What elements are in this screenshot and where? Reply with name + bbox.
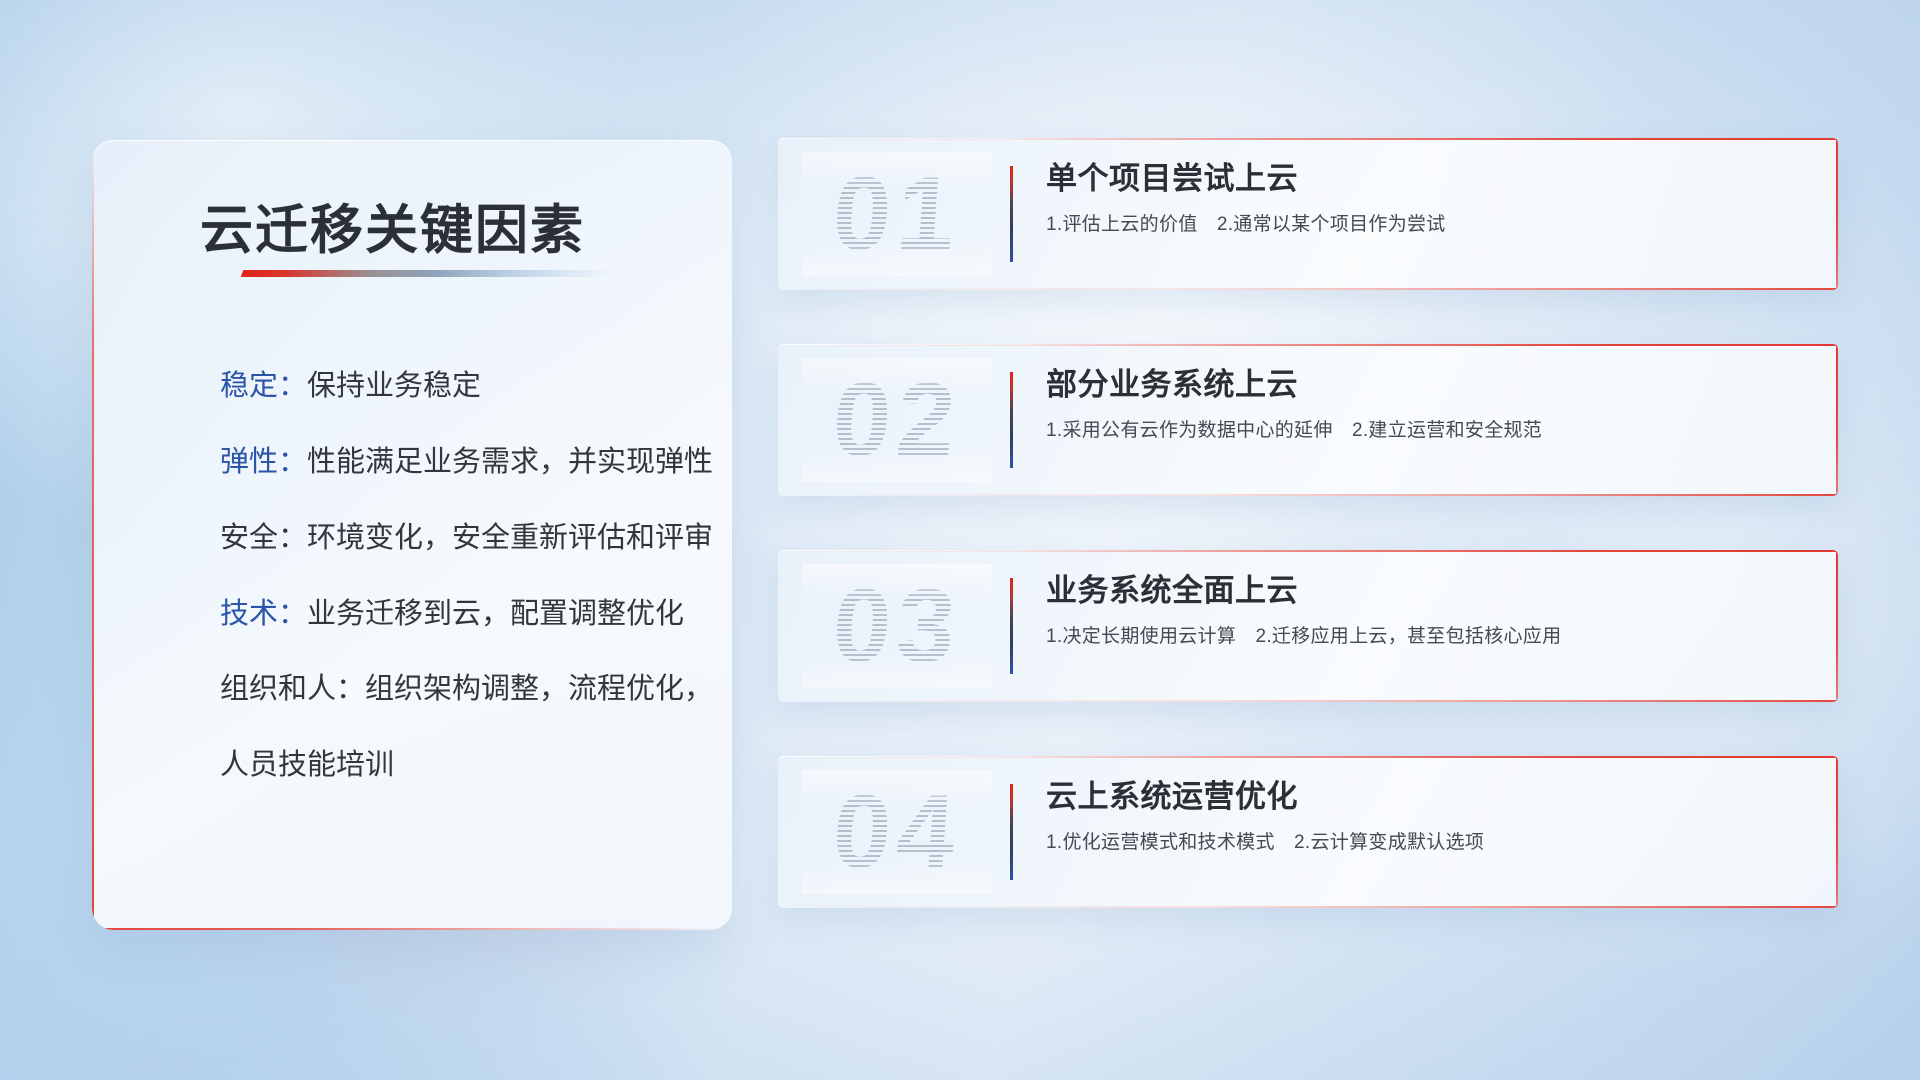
card-right-accent — [1836, 344, 1838, 496]
card-body: 单个项目尝试上云 1.评估上云的价值 2.通常以某个项目作为尝试 — [1046, 160, 1802, 238]
card-top-accent — [778, 756, 1838, 758]
factor-value-organization-continuation: 人员技能培训 — [220, 751, 692, 781]
card-divider-bar — [1010, 372, 1013, 468]
factor-value-technology: 业务迁移到云，配置调整优化 — [307, 598, 684, 630]
card-number-02: 02 — [798, 358, 997, 482]
factor-value-security: 环境变化，安全重新评估和评审 — [307, 522, 713, 554]
factor-list: 稳定：保持业务稳定 弹性：性能满足业务需求，并实现弹性 安全：环境变化，安全重新… — [220, 372, 692, 781]
card-number-01: 01 — [798, 152, 997, 276]
factor-label-stability: 稳定： — [220, 370, 307, 402]
panel-title: 云迁移关键因素 — [200, 188, 585, 264]
stage-card-04[interactable]: 04 云上系统运营优化 1.优化运营模式和技术模式 2.云计算变成默认选项 — [778, 756, 1838, 908]
factor-value-elasticity: 性能满足业务需求，并实现弹性 — [307, 446, 713, 478]
card-right-accent — [1836, 138, 1838, 290]
factor-label-organization: 组织和人： — [220, 673, 365, 705]
factor-label-elasticity: 弹性： — [220, 446, 307, 478]
card-bottom-accent — [778, 700, 1838, 702]
card-title-03: 业务系统全面上云 — [1046, 572, 1802, 610]
factor-item-technology: 技术：业务迁移到云，配置调整优化 — [220, 600, 692, 630]
factor-item-security: 安全：环境变化，安全重新评估和评审 — [220, 524, 692, 554]
card-desc-03: 1.决定长期使用云计算 2.迁移应用上云，甚至包括核心应用 — [1046, 625, 1802, 650]
factor-value-organization: 组织架构调整，流程优化， — [365, 673, 713, 705]
stage-card-list: 01 单个项目尝试上云 1.评估上云的价值 2.通常以某个项目作为尝试 02 部… — [778, 138, 1838, 908]
card-number-03: 03 — [798, 564, 997, 688]
card-divider-bar — [1010, 784, 1013, 880]
card-title-02: 部分业务系统上云 — [1046, 366, 1802, 404]
stage-card-02[interactable]: 02 部分业务系统上云 1.采用公有云作为数据中心的延伸 2.建立运营和安全规范 — [778, 344, 1838, 496]
card-bottom-accent — [778, 494, 1838, 496]
card-desc-04: 1.优化运营模式和技术模式 2.云计算变成默认选项 — [1046, 831, 1802, 856]
card-body: 部分业务系统上云 1.采用公有云作为数据中心的延伸 2.建立运营和安全规范 — [1046, 366, 1802, 444]
factor-label-security: 安全： — [220, 522, 307, 554]
card-top-accent — [778, 344, 1838, 346]
card-desc-02: 1.采用公有云作为数据中心的延伸 2.建立运营和安全规范 — [1046, 419, 1802, 444]
card-divider-bar — [1010, 578, 1013, 674]
factor-item-elasticity: 弹性：性能满足业务需求，并实现弹性 — [220, 448, 692, 478]
card-body: 云上系统运营优化 1.优化运营模式和技术模式 2.云计算变成默认选项 — [1046, 778, 1802, 856]
card-title-04: 云上系统运营优化 — [1046, 778, 1802, 816]
panel-top-highlight — [92, 140, 732, 141]
panel-bottom-accent — [92, 928, 732, 930]
card-top-accent — [778, 550, 1838, 552]
card-bottom-accent — [778, 906, 1838, 908]
slide-stage: 云迁移关键因素 稳定：保持业务稳定 弹性：性能满足业务需求，并实现弹性 安全：环… — [0, 0, 1920, 1080]
factor-label-technology: 技术： — [220, 598, 307, 630]
title-underline-rule — [241, 270, 614, 277]
factor-item-organization: 组织和人：组织架构调整，流程优化， — [220, 675, 692, 705]
card-desc-01: 1.评估上云的价值 2.通常以某个项目作为尝试 — [1046, 213, 1802, 238]
card-bottom-accent — [778, 288, 1838, 290]
card-body: 业务系统全面上云 1.决定长期使用云计算 2.迁移应用上云，甚至包括核心应用 — [1046, 572, 1802, 650]
card-right-accent — [1836, 550, 1838, 702]
card-number-04: 04 — [798, 770, 997, 894]
card-divider-bar — [1010, 166, 1013, 262]
stage-card-01[interactable]: 01 单个项目尝试上云 1.评估上云的价值 2.通常以某个项目作为尝试 — [778, 138, 1838, 290]
factor-value-stability: 保持业务稳定 — [307, 370, 481, 402]
panel-left-accent — [92, 140, 94, 930]
card-title-01: 单个项目尝试上云 — [1046, 160, 1802, 198]
card-right-accent — [1836, 756, 1838, 908]
card-top-accent — [778, 138, 1838, 140]
factor-item-stability: 稳定：保持业务稳定 — [220, 372, 692, 402]
key-factors-panel: 云迁移关键因素 稳定：保持业务稳定 弹性：性能满足业务需求，并实现弹性 安全：环… — [92, 140, 732, 930]
stage-card-03[interactable]: 03 业务系统全面上云 1.决定长期使用云计算 2.迁移应用上云，甚至包括核心应… — [778, 550, 1838, 702]
